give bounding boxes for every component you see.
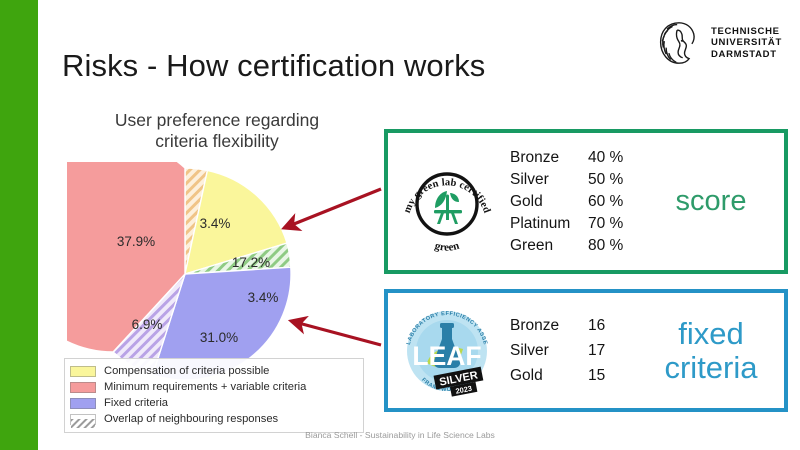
legend-label-3: Overlap of neighbouring responses bbox=[104, 413, 278, 425]
leaf-badge-cell: LEAF LABORATORY EFFICIENCY ASSE FRAMEWOR… bbox=[388, 301, 506, 401]
tu-logo-line-2: UNIVERSITÄT bbox=[711, 37, 782, 49]
table-row: Green 80 % bbox=[510, 235, 644, 257]
green-row-value-2: 60 % bbox=[588, 191, 644, 213]
legend-item: Minimum requirements + variable criteria bbox=[70, 379, 358, 395]
green-row-name-1: Silver bbox=[510, 169, 588, 191]
legend-swatch-fixed bbox=[70, 398, 96, 409]
chart-title-line-1: User preference regarding bbox=[81, 110, 353, 131]
score-tag: score bbox=[676, 186, 747, 216]
table-row: Bronze 40 % bbox=[510, 147, 644, 169]
green-row-value-3: 70 % bbox=[588, 213, 644, 235]
legend-label-1: Minimum requirements + variable criteria bbox=[104, 381, 306, 393]
green-row-name-4: Green bbox=[510, 235, 588, 257]
pie-label-5: 37.9% bbox=[117, 234, 155, 249]
green-box-tag-cell: score bbox=[644, 186, 784, 216]
blue-box-rows: Bronze 16 Silver 17 Gold 15 bbox=[506, 313, 644, 388]
my-green-lab-badge-cell: my green lab certified green bbox=[388, 150, 506, 254]
chart-title-line-2: criteria flexibility bbox=[81, 131, 353, 152]
green-box-rows: Bronze 40 % Silver 50 % Gold 60 % Platin… bbox=[506, 147, 644, 257]
blue-row-name-0: Bronze bbox=[510, 313, 588, 338]
green-row-value-0: 40 % bbox=[588, 147, 644, 169]
legend-swatch-minimum bbox=[70, 382, 96, 393]
svg-text:green: green bbox=[433, 239, 460, 253]
blue-row-value-2: 15 bbox=[588, 363, 644, 388]
legend-swatch-overlap bbox=[70, 414, 96, 425]
pie-chart-block: User preference regarding criteria flexi… bbox=[62, 110, 372, 425]
pie-label-2: 3.4% bbox=[248, 290, 279, 305]
table-row: Gold 15 bbox=[510, 363, 644, 388]
table-row: Silver 17 bbox=[510, 338, 644, 363]
pie-label-4: 6.9% bbox=[132, 317, 163, 332]
table-row: Platinum 70 % bbox=[510, 213, 644, 235]
blue-box-tag-cell: fixed criteria bbox=[644, 317, 784, 384]
my-green-lab-certified-badge-icon: my green lab certified green bbox=[397, 150, 497, 254]
tu-logo-line-3: DARMSTADT bbox=[711, 49, 782, 61]
table-row: Bronze 16 bbox=[510, 313, 644, 338]
legend-item: Fixed criteria bbox=[70, 395, 358, 411]
page-title: Risks - How certification works bbox=[62, 48, 485, 84]
legend-item: Overlap of neighbouring responses bbox=[70, 411, 358, 427]
table-row: Silver 50 % bbox=[510, 169, 644, 191]
green-row-name-2: Gold bbox=[510, 191, 588, 213]
left-accent-bar bbox=[0, 0, 38, 450]
blue-row-value-1: 17 bbox=[588, 338, 644, 363]
pie-label-0: 3.4% bbox=[200, 216, 231, 231]
slide: TECHNISCHE UNIVERSITÄT DARMSTADT Risks -… bbox=[0, 0, 800, 450]
tu-logo-line-1: TECHNISCHE bbox=[711, 26, 782, 38]
pie-label-1: 17.2% bbox=[232, 255, 270, 270]
slide-footer: Bianca Schell - Sustainability in Life S… bbox=[0, 430, 800, 440]
legend-swatch-compensation bbox=[70, 366, 96, 377]
tu-athena-head-icon bbox=[656, 20, 702, 66]
hatch-pattern-icon bbox=[71, 419, 95, 428]
leaf-silver-2023-badge-icon: LEAF LABORATORY EFFICIENCY ASSE FRAMEWOR… bbox=[397, 301, 497, 401]
green-row-name-0: Bronze bbox=[510, 147, 588, 169]
tu-darmstadt-logo: TECHNISCHE UNIVERSITÄT DARMSTADT bbox=[656, 20, 782, 66]
blue-row-name-1: Silver bbox=[510, 338, 588, 363]
legend-item: Compensation of criteria possible bbox=[70, 363, 358, 379]
leaf-wordmark: LEAF bbox=[412, 341, 481, 371]
legend-label-2: Fixed criteria bbox=[104, 397, 168, 409]
fixed-criteria-tag: fixed criteria bbox=[664, 317, 757, 384]
tu-logo-wordmark: TECHNISCHE UNIVERSITÄT DARMSTADT bbox=[711, 26, 782, 61]
blue-row-name-2: Gold bbox=[510, 363, 588, 388]
fixed-criteria-tag-line-2: criteria bbox=[664, 351, 757, 384]
leaf-info-box: LEAF LABORATORY EFFICIENCY ASSE FRAMEWOR… bbox=[384, 289, 788, 412]
green-row-value-1: 50 % bbox=[588, 169, 644, 191]
pie-label-3: 31.0% bbox=[200, 330, 238, 345]
blue-row-value-0: 16 bbox=[588, 313, 644, 338]
pie-slices bbox=[67, 162, 291, 380]
green-row-name-3: Platinum bbox=[510, 213, 588, 235]
green-row-value-4: 80 % bbox=[588, 235, 644, 257]
table-row: Gold 60 % bbox=[510, 191, 644, 213]
my-green-lab-info-box: my green lab certified green Bronze 40 %… bbox=[384, 129, 788, 274]
chart-title: User preference regarding criteria flexi… bbox=[81, 110, 353, 152]
chart-legend: Compensation of criteria possible Minimu… bbox=[64, 358, 364, 433]
legend-label-0: Compensation of criteria possible bbox=[104, 365, 269, 377]
fixed-criteria-tag-line-1: fixed bbox=[664, 317, 757, 350]
svg-text:2023: 2023 bbox=[455, 383, 473, 395]
